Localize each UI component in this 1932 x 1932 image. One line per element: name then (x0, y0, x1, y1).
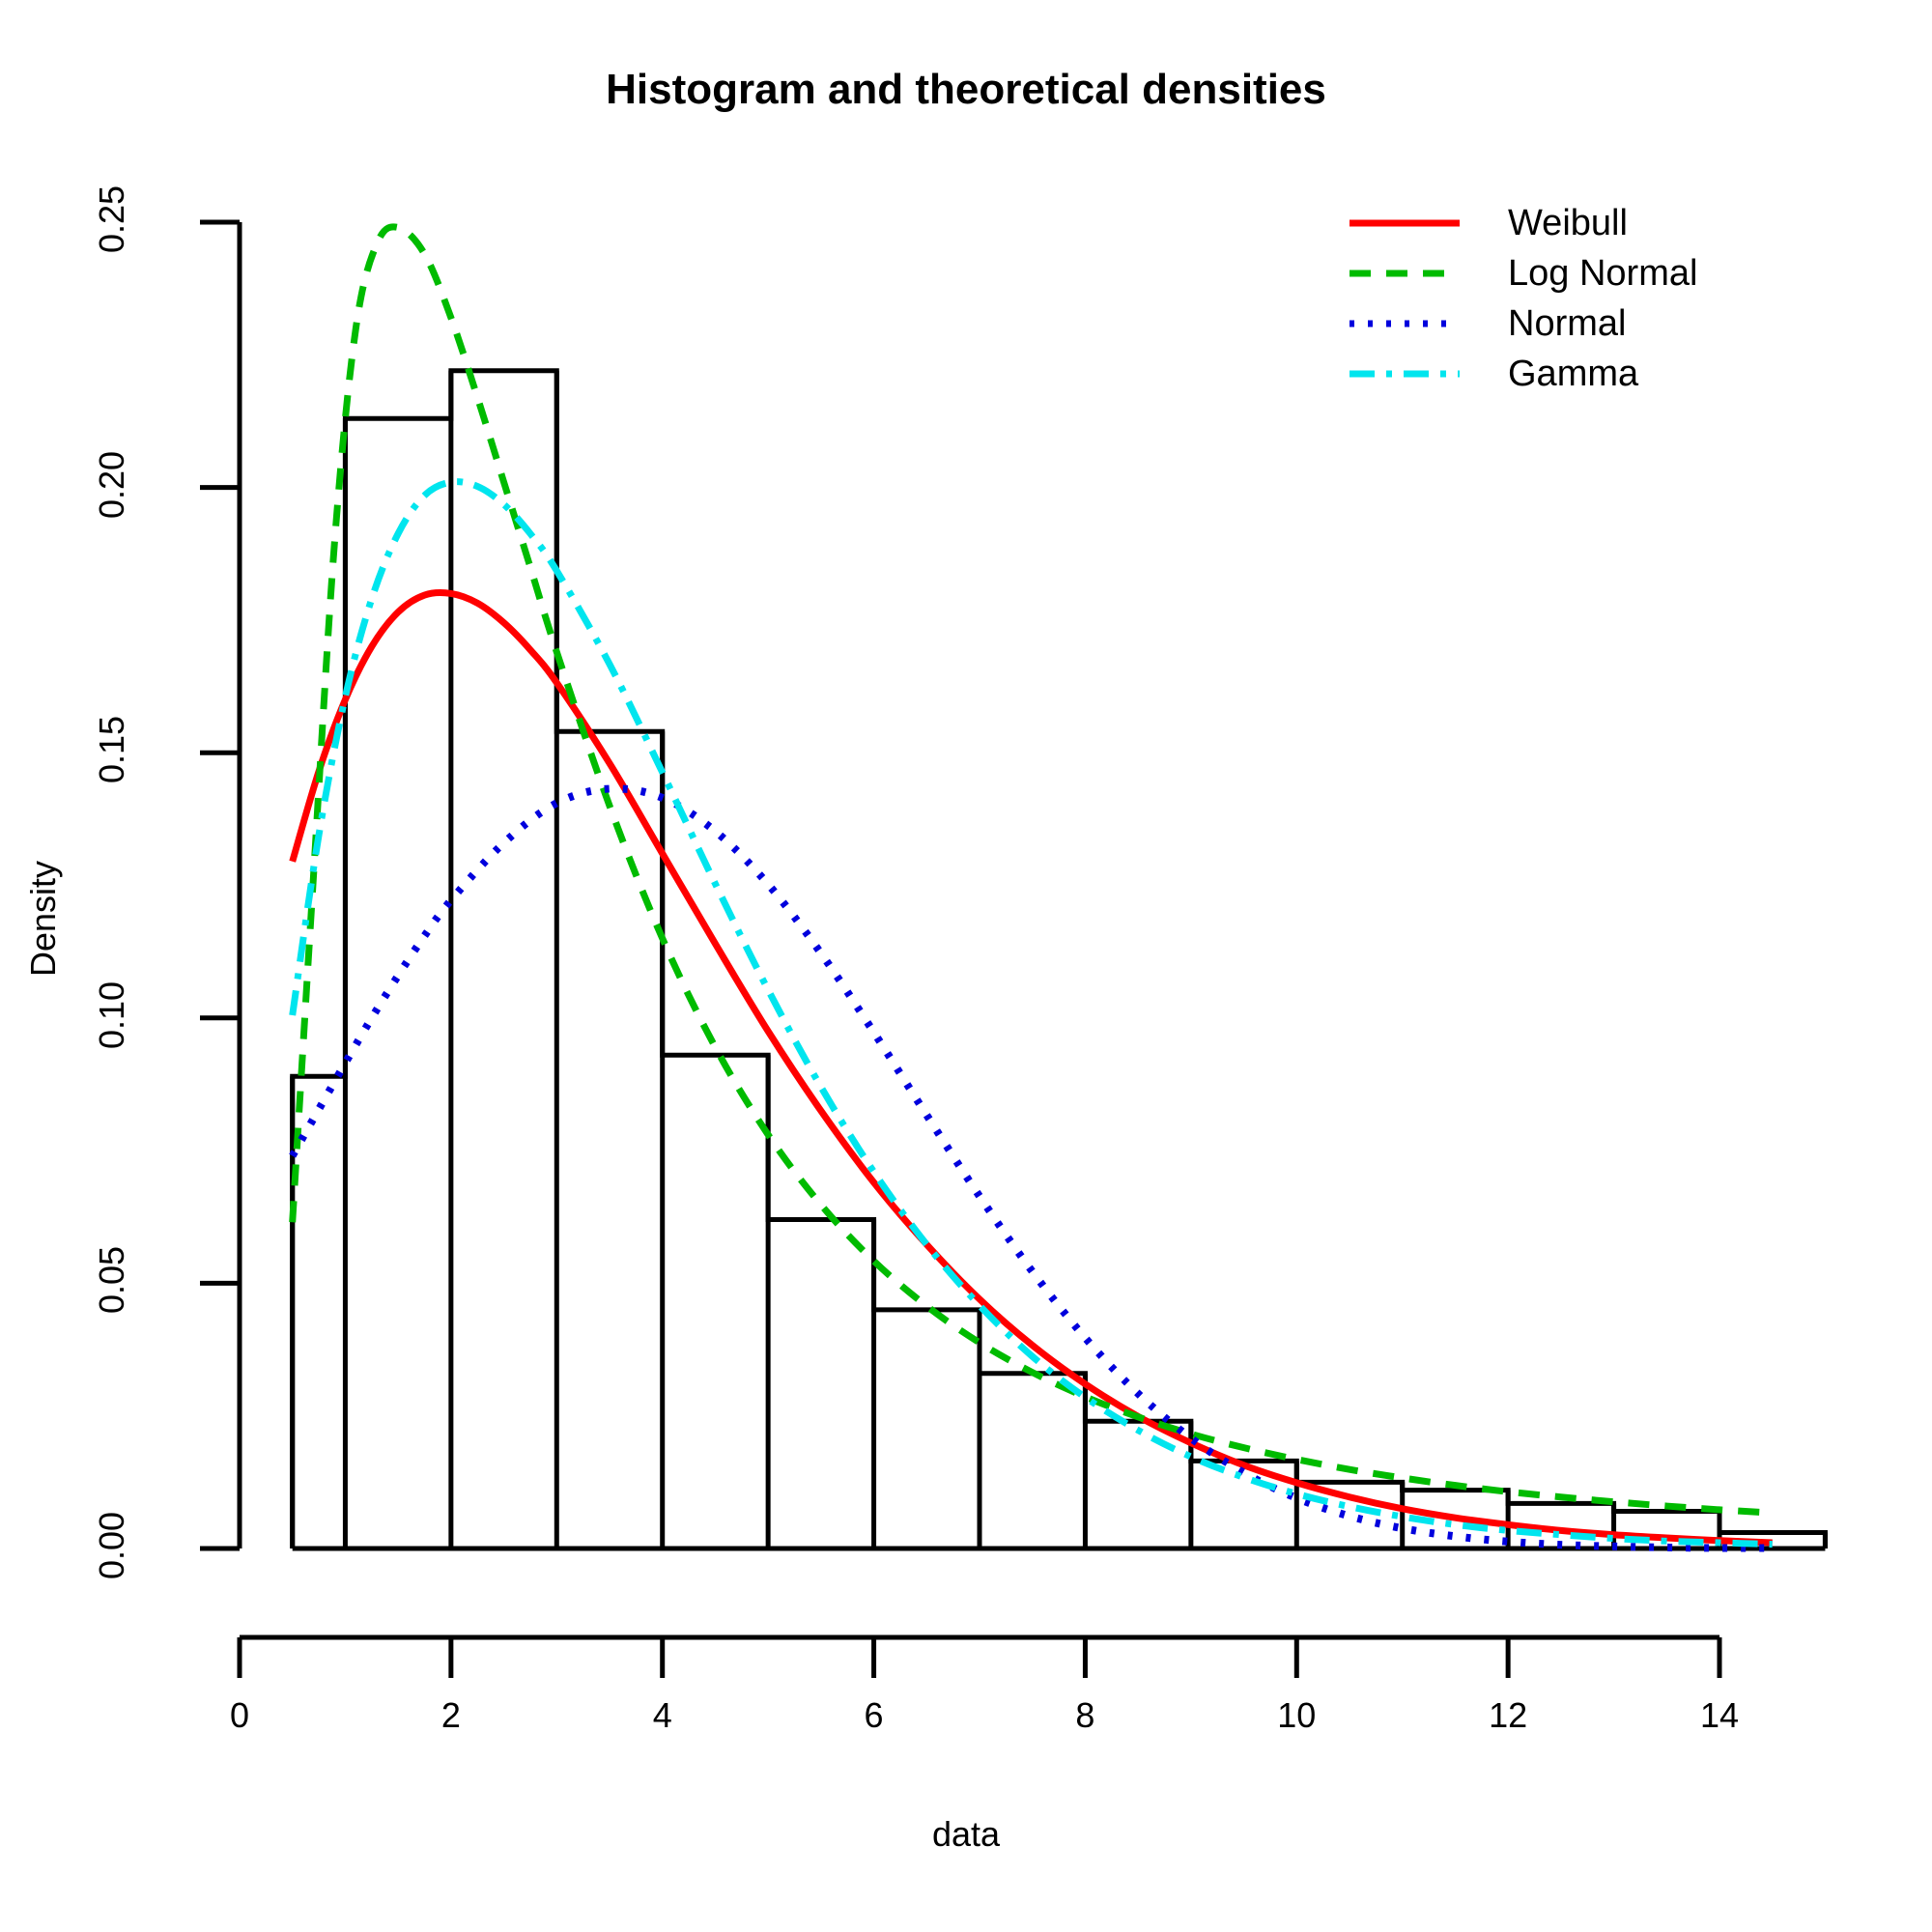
legend-item-weibull[interactable]: Weibull (1348, 198, 1802, 248)
density-curve-log-normal (293, 227, 1773, 1513)
legend-item-normal[interactable]: Normal (1348, 298, 1802, 349)
legend-label-gamma: Gamma (1508, 354, 1638, 395)
x-tick-label: 8 (1008, 1695, 1162, 1736)
legend-swatch-normal (1348, 298, 1462, 349)
legend-label-log-normal: Log Normal (1508, 253, 1697, 295)
x-tick-label: 14 (1642, 1695, 1797, 1736)
x-tick-label: 10 (1219, 1695, 1374, 1736)
density-curve-gamma (293, 482, 1773, 1545)
y-tick-label: 0.10 (92, 938, 132, 1093)
y-tick-label: 0.00 (92, 1468, 132, 1623)
legend-item-log-normal[interactable]: Log Normal (1348, 248, 1802, 298)
legend-label-normal: Normal (1508, 303, 1626, 345)
legend-swatch-gamma (1348, 349, 1462, 399)
density-curves (293, 227, 1773, 1548)
density-curve-normal (293, 788, 1773, 1548)
density-curve-weibull (293, 593, 1773, 1543)
y-tick-label: 0.05 (92, 1203, 132, 1357)
axes (200, 222, 1719, 1678)
y-tick-label: 0.20 (92, 408, 132, 562)
x-tick-label: 2 (374, 1695, 528, 1736)
x-tick-label: 6 (797, 1695, 952, 1736)
plot-canvas: Histogram and theoretical densities Dens… (0, 0, 1932, 1932)
y-tick-label: 0.15 (92, 672, 132, 827)
legend: Weibull Log Normal Normal Gamma (1348, 198, 1802, 399)
y-tick-label: 0.25 (92, 142, 132, 297)
x-tick-label: 12 (1431, 1695, 1585, 1736)
x-tick-label: 0 (162, 1695, 317, 1736)
legend-label-weibull: Weibull (1508, 203, 1628, 244)
legend-swatch-log-normal (1348, 248, 1462, 298)
legend-swatch-weibull (1348, 198, 1462, 248)
x-tick-label: 4 (585, 1695, 740, 1736)
legend-item-gamma[interactable]: Gamma (1348, 349, 1802, 399)
